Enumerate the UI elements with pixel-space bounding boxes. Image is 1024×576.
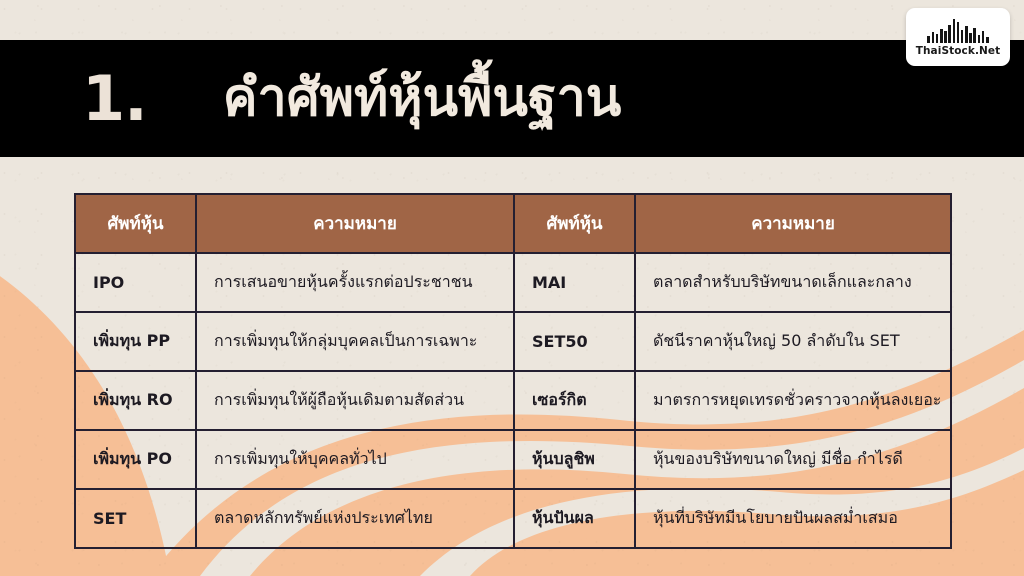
column-header-meaning-left: ความหมาย	[196, 194, 514, 253]
term-cell: MAI	[514, 253, 635, 312]
term-cell: SET50	[514, 312, 635, 371]
meaning-cell: หุ้นที่บริษัทมีนโยบายปันผลสม่ำเสมอ	[635, 489, 951, 548]
brand-name: ThaiStock.Net	[916, 45, 1001, 57]
section-number: 1.	[82, 68, 147, 130]
column-header-meaning-right: ความหมาย	[635, 194, 951, 253]
bar-chart-icon	[927, 18, 988, 43]
column-header-term-right: ศัพท์หุ้น	[514, 194, 635, 253]
term-cell: เพิ่มทุน RO	[75, 371, 196, 430]
page-title: คำศัพท์หุ้นพื้นฐาน	[223, 66, 622, 131]
table-body: IPO การเสนอขายหุ้นครั้งแรกต่อประชาชน MAI…	[75, 253, 951, 548]
title-band: 1. คำศัพท์หุ้นพื้นฐาน	[0, 40, 1024, 157]
slide-canvas: 1. คำศัพท์หุ้นพื้นฐาน ThaiStock.Net ศัพท…	[0, 0, 1024, 576]
table-header-row: ศัพท์หุ้น ความหมาย ศัพท์หุ้น ความหมาย	[75, 194, 951, 253]
term-cell: IPO	[75, 253, 196, 312]
term-cell: หุ้นบลูชิพ	[514, 430, 635, 489]
meaning-cell: ตลาดสำหรับบริษัทขนาดเล็กและกลาง	[635, 253, 951, 312]
column-header-term-left: ศัพท์หุ้น	[75, 194, 196, 253]
meaning-cell: การเสนอขายหุ้นครั้งแรกต่อประชาชน	[196, 253, 514, 312]
meaning-cell: หุ้นของบริษัทขนาดใหญ่ มีชื่อ กำไรดี	[635, 430, 951, 489]
term-cell: เซอร์กิต	[514, 371, 635, 430]
term-cell: เพิ่มทุน PO	[75, 430, 196, 489]
table-row: IPO การเสนอขายหุ้นครั้งแรกต่อประชาชน MAI…	[75, 253, 951, 312]
term-cell: SET	[75, 489, 196, 548]
stock-vocabulary-table: ศัพท์หุ้น ความหมาย ศัพท์หุ้น ความหมาย IP…	[74, 193, 952, 549]
meaning-cell: ดัชนีราคาหุ้นใหญ่ 50 ลำดับใน SET	[635, 312, 951, 371]
table-row: SET ตลาดหลักทรัพย์แห่งประเทศไทย หุ้นปันผ…	[75, 489, 951, 548]
table-row: เพิ่มทุน PP การเพิ่มทุนให้กลุ่มบุคคลเป็น…	[75, 312, 951, 371]
meaning-cell: ตลาดหลักทรัพย์แห่งประเทศไทย	[196, 489, 514, 548]
brand-logo: ThaiStock.Net	[906, 8, 1010, 66]
meaning-cell: การเพิ่มทุนให้กลุ่มบุคคลเป็นการเฉพาะ	[196, 312, 514, 371]
meaning-cell: การเพิ่มทุนให้บุคคลทั่วไป	[196, 430, 514, 489]
term-cell: หุ้นปันผล	[514, 489, 635, 548]
term-cell: เพิ่มทุน PP	[75, 312, 196, 371]
table-row: เพิ่มทุน PO การเพิ่มทุนให้บุคคลทั่วไป หุ…	[75, 430, 951, 489]
meaning-cell: การเพิ่มทุนให้ผู้ถือหุ้นเดิมตามสัดส่วน	[196, 371, 514, 430]
table-row: เพิ่มทุน RO การเพิ่มทุนให้ผู้ถือหุ้นเดิม…	[75, 371, 951, 430]
table-header: ศัพท์หุ้น ความหมาย ศัพท์หุ้น ความหมาย	[75, 194, 951, 253]
meaning-cell: มาตรการหยุดเทรดชั่วคราวจากหุ้นลงเยอะ	[635, 371, 951, 430]
